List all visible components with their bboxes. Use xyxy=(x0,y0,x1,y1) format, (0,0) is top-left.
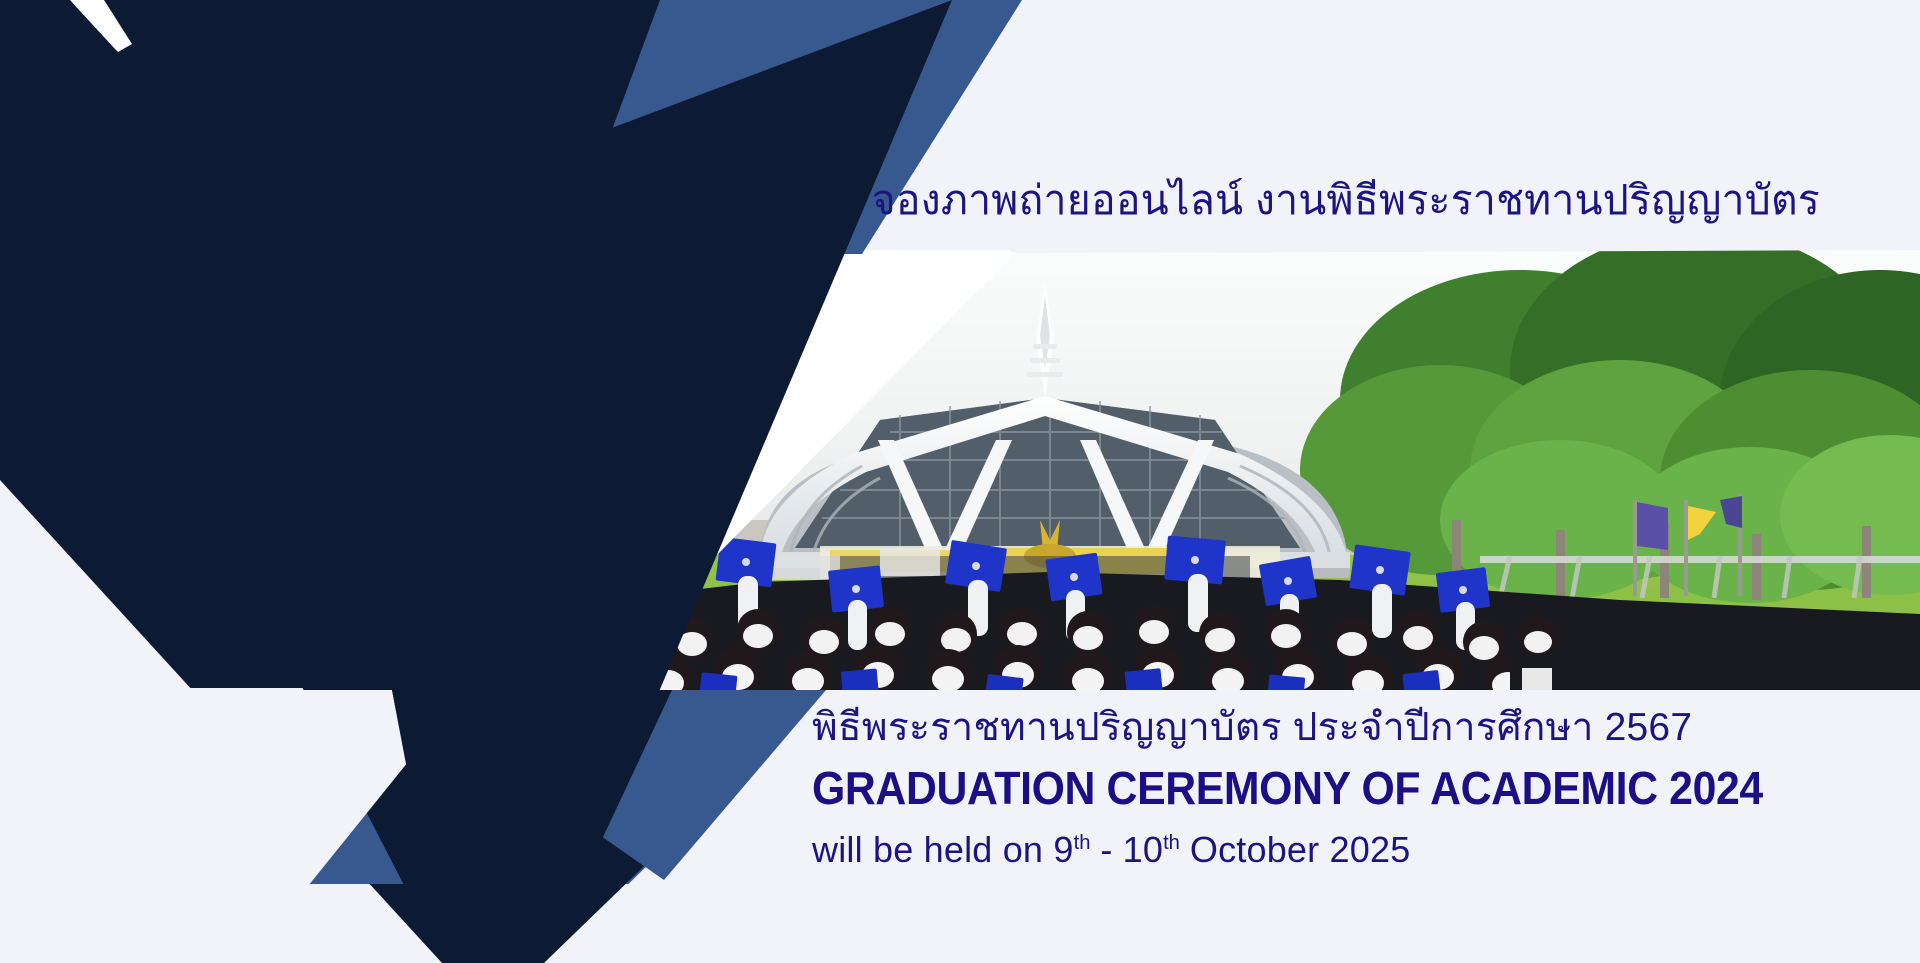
headline-top: จองภาพถ่ายออนไลน์ งานพิธีพระราชทานปริญญา… xyxy=(0,178,1820,224)
day-end: 10 xyxy=(1123,829,1163,870)
date-prefix: will be held on xyxy=(812,829,1053,870)
thai-subtitle: พิธีพระราชทานปริญญาบัตร ประจำปีการศึกษา … xyxy=(812,706,1834,751)
graduation-banner: จองภาพถ่ายออนไลน์ งานพิธีพระราชทานปริญญา… xyxy=(0,0,1920,963)
date-line: will be held on 9th-10thOctober 2025 xyxy=(812,828,1834,871)
day-separator: - xyxy=(1100,829,1112,870)
day-start-suffix: th xyxy=(1074,832,1091,854)
day-start: 9 xyxy=(1053,829,1073,870)
day-end-suffix: th xyxy=(1163,832,1180,854)
english-title: GRADUATION CEREMONY OF ACADEMIC 2024 xyxy=(812,763,1763,815)
date-suffix: October 2025 xyxy=(1190,829,1411,870)
bottom-text-block: พิธีพระราชทานปริญญาบัตร ประจำปีการศึกษา … xyxy=(812,706,1834,872)
